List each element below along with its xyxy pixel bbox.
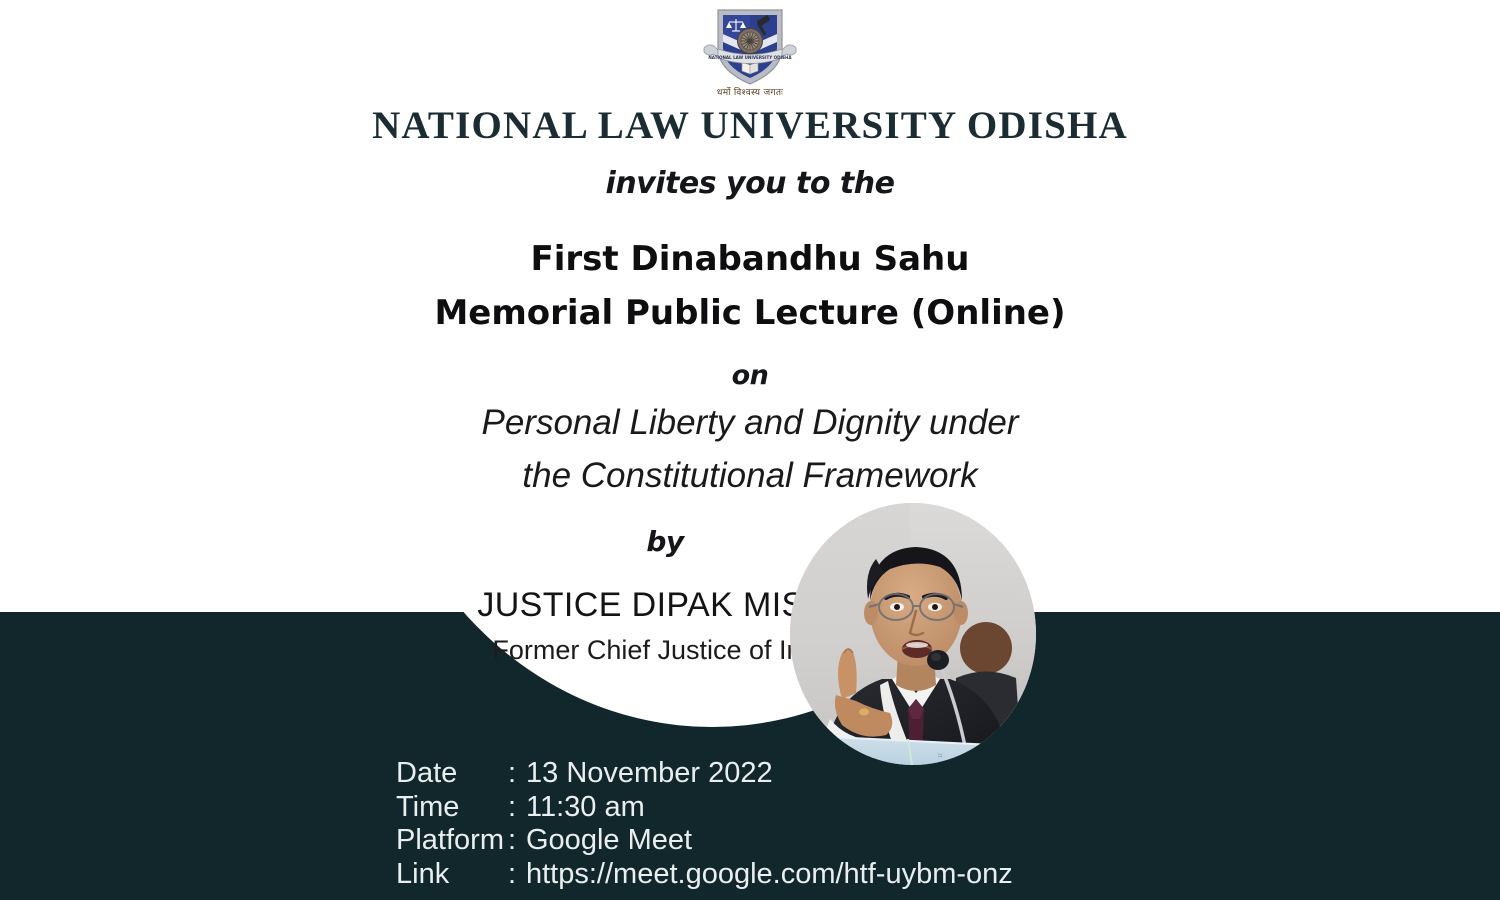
meeting-link[interactable]: https://meet.google.com/htf-uybm-onz: [526, 858, 1013, 892]
svg-text:ಅಂ: ಅಂ: [978, 749, 986, 757]
detail-separator: :: [508, 791, 526, 825]
lecture-topic-line-1: Personal Liberty and Dignity under: [0, 396, 1500, 449]
nluo-crest-icon: NATIONAL LAW UNIVERSITY ODISHA: [698, 4, 802, 88]
detail-label: Date: [396, 757, 508, 791]
detail-value: 11:30 am: [526, 791, 645, 825]
lecture-topic: Personal Liberty and Dignity under the C…: [0, 396, 1500, 502]
lecture-title: First Dinabandhu Sahu Memorial Public Le…: [0, 232, 1500, 340]
by-line: by: [0, 525, 1330, 558]
lecture-title-line-1: First Dinabandhu Sahu: [0, 232, 1500, 286]
on-text: on: [732, 360, 769, 391]
detail-value: 13 November 2022: [526, 757, 773, 791]
by-text: by: [646, 525, 683, 558]
svg-text:ಜ: ಜ: [938, 751, 943, 759]
svg-text:NATIONAL LAW UNIVERSITY ODISHA: NATIONAL LAW UNIVERSITY ODISHA: [708, 55, 792, 60]
speaker-name: JUSTICE DIPAK MISRA: [0, 586, 1330, 625]
detail-row-time: Time:11:30 am: [396, 791, 1013, 825]
on-line: on: [0, 360, 1500, 391]
university-name: NATIONAL LAW UNIVERSITY ODISHA: [0, 103, 1500, 148]
speaker-portrait: ಜ ಅಂ: [790, 503, 1036, 765]
invitation-poster: NATIONAL LAW UNIVERSITY ODISHA धर्मो विश…: [0, 0, 1500, 900]
detail-row-link: Link:https://meet.google.com/htf-uybm-on…: [396, 858, 1013, 892]
invites-line: invites you to the: [0, 166, 1500, 201]
detail-label: Link: [396, 858, 508, 892]
detail-row-platform: Platform:Google Meet: [396, 824, 1013, 858]
detail-label: Time: [396, 791, 508, 825]
lecture-topic-line-2: the Constitutional Framework: [0, 449, 1500, 502]
detail-separator: :: [508, 757, 526, 791]
logo-motto: धर्मो विश्वस्य जगतः: [0, 85, 1500, 98]
speaker-role: Former Chief Justice of India: [0, 635, 1330, 666]
ashoka-chakra-icon: [738, 29, 763, 54]
detail-value: Google Meet: [526, 824, 692, 858]
invites-text: invites you to the: [606, 166, 895, 201]
university-logo: NATIONAL LAW UNIVERSITY ODISHA धर्मो विश…: [0, 4, 1500, 98]
detail-separator: :: [508, 858, 526, 892]
detail-label: Platform: [396, 824, 508, 858]
lecture-title-line-2: Memorial Public Lecture (Online): [0, 286, 1500, 340]
detail-separator: :: [508, 824, 526, 858]
event-details: Date:13 November 2022 Time:11:30 am Plat…: [396, 757, 1013, 891]
